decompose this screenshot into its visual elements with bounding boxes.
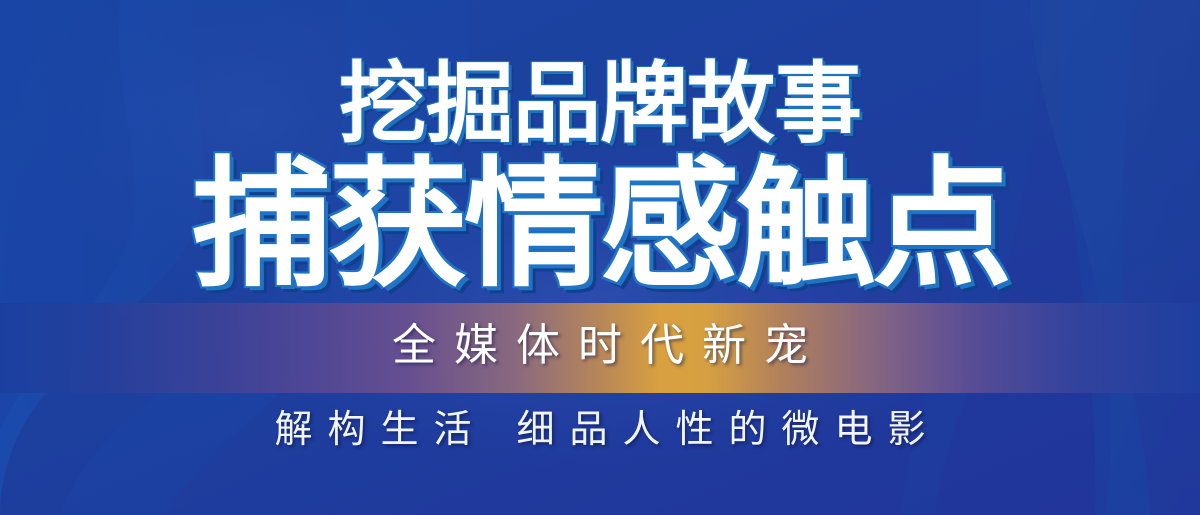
banner-content: 挖掘品牌故事 捕获情感触点 全媒体时代新宠 解构生活细品人性的微电影 bbox=[0, 0, 1200, 515]
tagline-part-1: 解构生活 bbox=[274, 409, 486, 451]
subheadline: 全媒体时代新宠 bbox=[0, 324, 1200, 368]
tagline: 解构生活细品人性的微电影 bbox=[0, 411, 1200, 449]
tagline-part-2: 细品人性的微电影 bbox=[517, 409, 941, 451]
headline-line-2: 捕获情感触点 bbox=[0, 155, 1200, 295]
promo-banner: 挖掘品牌故事 捕获情感触点 全媒体时代新宠 解构生活细品人性的微电影 bbox=[0, 0, 1200, 515]
headline-line-1: 挖掘品牌故事 bbox=[0, 60, 1200, 148]
